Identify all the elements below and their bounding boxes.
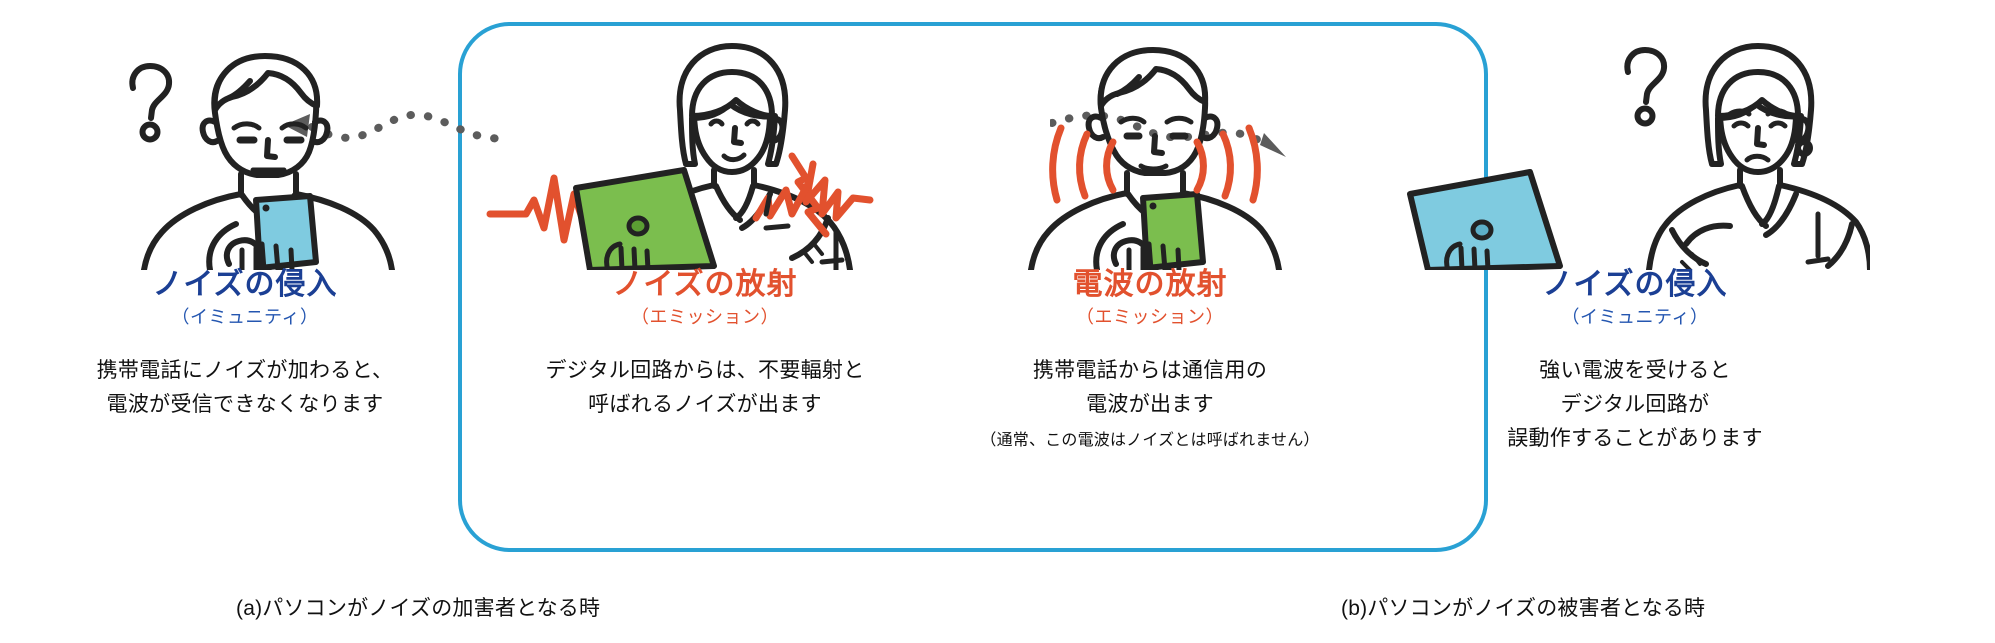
panel-3-text: 電波の放射 （エミッション） 携帯電話からは通信用の 電波が出ます （通常、この… bbox=[915, 268, 1385, 453]
panel-radio-emission-phone: 電波の放射 （エミッション） 携帯電話からは通信用の 電波が出ます （通常、この… bbox=[915, 0, 1385, 560]
panel-3-subheading: （エミッション） bbox=[915, 308, 1385, 328]
panel-noise-emission-laptop: ノイズの放射 （エミッション） デジタル回路からは、不要輻射と 呼ばれるノイズが… bbox=[470, 0, 940, 560]
panel-3-note: （通常、この電波はノイズとは呼ばれません） bbox=[915, 428, 1385, 454]
panel-1-subheading: （イミュニティ） bbox=[10, 308, 480, 328]
figure-man-with-green-phone bbox=[915, 18, 1385, 270]
panel-3-body-line-1: 携帯電話からは通信用の bbox=[915, 354, 1385, 388]
panel-3-body-line-2: 電波が出ます bbox=[915, 388, 1385, 422]
panel-2-body-line-1: デジタル回路からは、不要輻射と bbox=[470, 354, 940, 388]
panel-4-subheading: （イミュニティ） bbox=[1400, 308, 1870, 328]
panel-4-body-line-1: 強い電波を受けると bbox=[1400, 354, 1870, 388]
panel-4-heading: ノイズの侵入 bbox=[1400, 268, 1870, 301]
panel-2-text: ノイズの放射 （エミッション） デジタル回路からは、不要輻射と 呼ばれるノイズが… bbox=[470, 268, 940, 422]
panel-4-body-line-2: デジタル回路が bbox=[1400, 388, 1870, 422]
panel-4-text: ノイズの侵入 （イミュニティ） 強い電波を受けると デジタル回路が 誤動作するこ… bbox=[1400, 268, 1870, 456]
panel-2-subheading: （エミッション） bbox=[470, 308, 940, 328]
panel-1-body-line-1: 携帯電話にノイズが加わると、 bbox=[10, 354, 480, 388]
figure-woman-with-blue-laptop bbox=[1400, 18, 1870, 270]
panel-1-body-line-2: 電波が受信できなくなります bbox=[10, 388, 480, 422]
diagram-canvas: ノイズの侵入 （イミュニティ） 携帯電話にノイズが加わると、 電波が受信できなく… bbox=[0, 0, 1995, 643]
panel-noise-immunity-phone: ノイズの侵入 （イミュニティ） 携帯電話にノイズが加わると、 電波が受信できなく… bbox=[10, 0, 480, 560]
caption-a: (a)パソコンがノイズの加害者となる時 bbox=[236, 592, 600, 622]
panel-3-heading: 電波の放射 bbox=[915, 268, 1385, 301]
panel-2-body-line-2: 呼ばれるノイズが出ます bbox=[470, 388, 940, 422]
caption-b: (b)パソコンがノイズの被害者となる時 bbox=[1341, 592, 1705, 622]
figure-man-with-blue-phone bbox=[10, 18, 480, 270]
panel-2-heading: ノイズの放射 bbox=[470, 268, 940, 301]
panel-1-text: ノイズの侵入 （イミュニティ） 携帯電話にノイズが加わると、 電波が受信できなく… bbox=[10, 268, 480, 422]
panel-4-body-line-3: 誤動作することがあります bbox=[1400, 422, 1870, 456]
panel-1-heading: ノイズの侵入 bbox=[10, 268, 480, 301]
figure-woman-with-green-laptop bbox=[470, 18, 940, 270]
panel-noise-immunity-laptop: ノイズの侵入 （イミュニティ） 強い電波を受けると デジタル回路が 誤動作するこ… bbox=[1400, 0, 1870, 560]
